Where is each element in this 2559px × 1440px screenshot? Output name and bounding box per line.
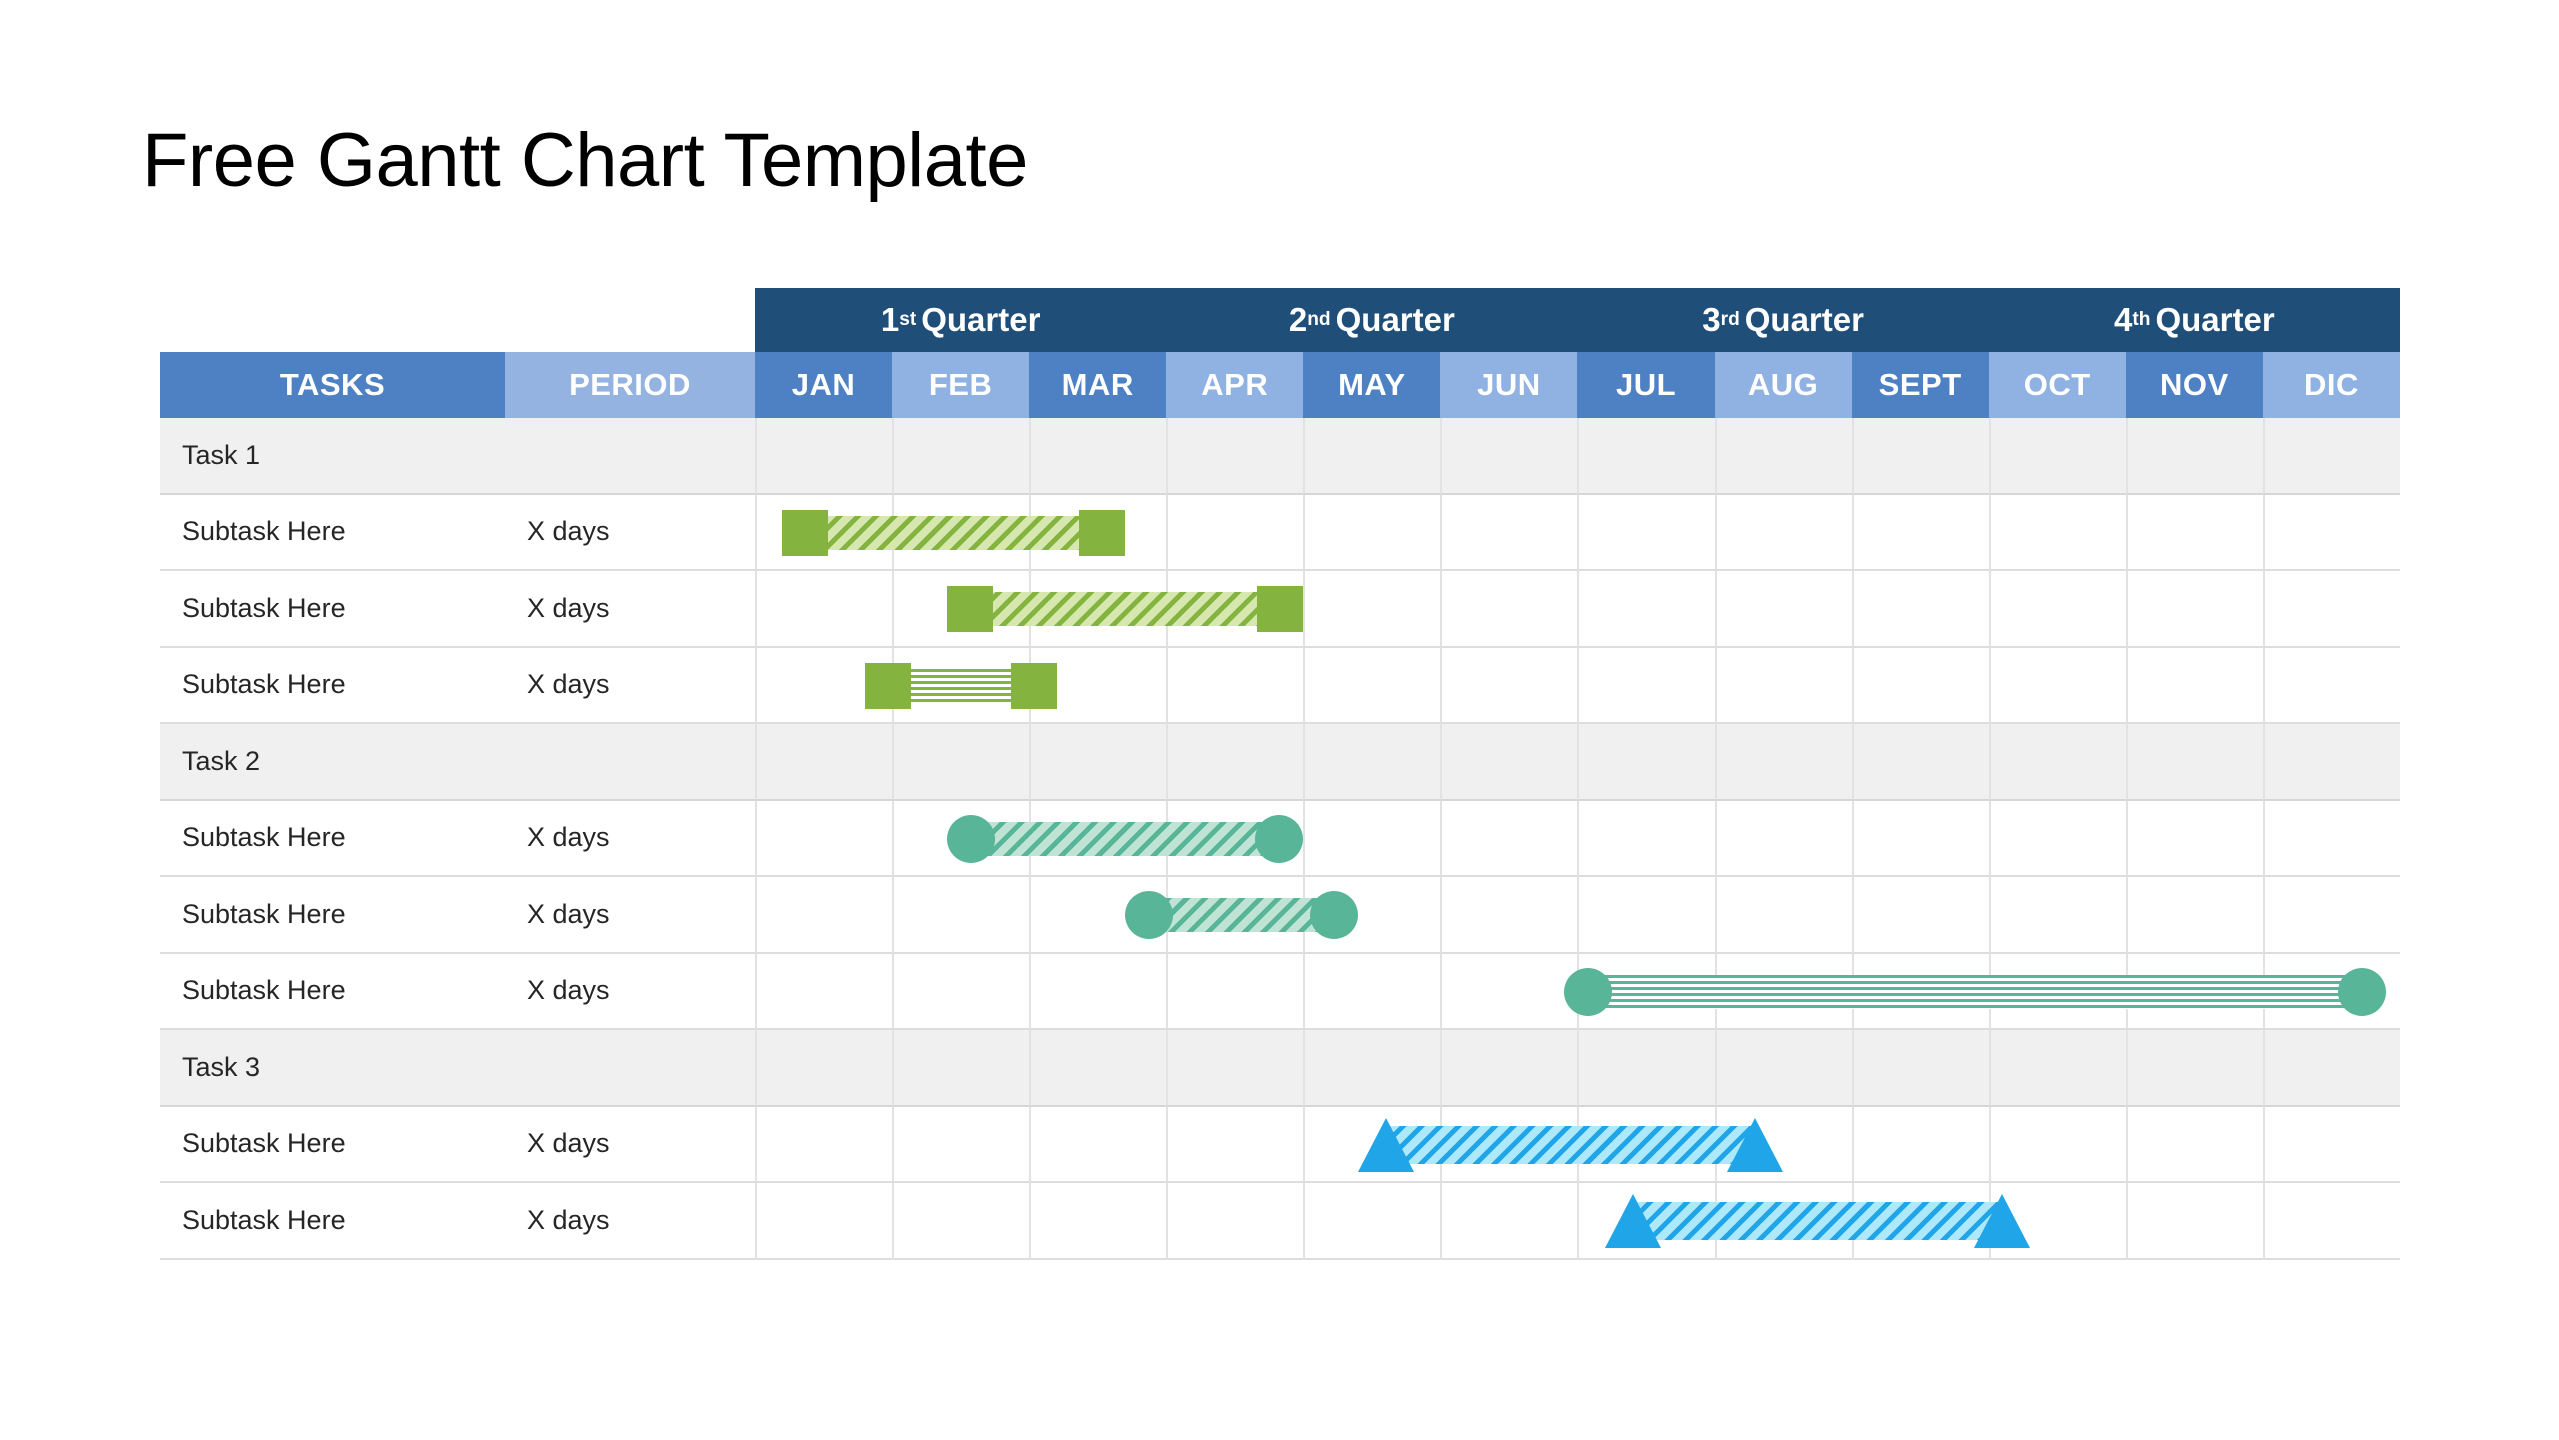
gantt-cell-jan[interactable] <box>755 1107 892 1184</box>
gantt-cell-feb[interactable] <box>892 954 1029 1031</box>
row-period-label: X days <box>505 801 755 878</box>
gantt-cell-mar[interactable] <box>1029 418 1166 495</box>
gantt-cell-jun[interactable] <box>1440 801 1577 878</box>
gantt-cell-mar[interactable] <box>1029 495 1166 572</box>
gantt-cell-apr[interactable] <box>1166 954 1303 1031</box>
gantt-cell-jul[interactable] <box>1577 1030 1714 1107</box>
gantt-cell-jan[interactable] <box>755 724 892 801</box>
gantt-cell-nov[interactable] <box>2126 648 2263 725</box>
gantt-cell-oct[interactable] <box>1989 571 2126 648</box>
column-header-period: PERIOD <box>505 352 755 418</box>
row-period-label <box>505 418 755 495</box>
gantt-chart: 1stQuarter 2ndQuarter 3rdQuarter 4thQuar… <box>160 288 2400 1260</box>
gantt-cell-nov[interactable] <box>2126 1030 2263 1107</box>
gantt-cell-dic[interactable] <box>2263 495 2400 572</box>
gantt-cell-aug[interactable] <box>1715 1183 1852 1260</box>
gantt-cell-jul[interactable] <box>1577 1107 1714 1184</box>
gantt-cell-apr[interactable] <box>1166 1030 1303 1107</box>
quarter-ordinal: 2 <box>1289 301 1307 339</box>
column-header-month-mar: MAR <box>1029 352 1166 418</box>
gantt-cell-jun[interactable] <box>1440 495 1577 572</box>
gantt-subtask-row[interactable]: Subtask HereX days <box>160 571 2400 648</box>
gantt-cell-sept[interactable] <box>1852 801 1989 878</box>
page-title: Free Gantt Chart Template <box>142 123 1028 199</box>
gantt-cell-may[interactable] <box>1303 648 1440 725</box>
gantt-cell-jan[interactable] <box>755 418 892 495</box>
gantt-cell-feb[interactable] <box>892 1030 1029 1107</box>
gantt-cell-dic[interactable] <box>2263 1030 2400 1107</box>
column-header-month-dic: DIC <box>2263 352 2400 418</box>
gantt-cell-sept[interactable] <box>1852 1183 1989 1260</box>
gantt-cell-sept[interactable] <box>1852 571 1989 648</box>
gantt-cell-feb[interactable] <box>892 801 1029 878</box>
row-period-label: X days <box>505 571 755 648</box>
gantt-cell-apr[interactable] <box>1166 495 1303 572</box>
quarter-header-row: 1stQuarter 2ndQuarter 3rdQuarter 4thQuar… <box>160 288 2400 352</box>
gantt-cell-apr[interactable] <box>1166 1107 1303 1184</box>
gantt-cell-oct[interactable] <box>1989 1107 2126 1184</box>
gantt-cell-apr[interactable] <box>1166 1183 1303 1260</box>
gantt-cell-may[interactable] <box>1303 1183 1440 1260</box>
gantt-cell-sept[interactable] <box>1852 418 1989 495</box>
gantt-subtask-row[interactable]: Subtask HereX days <box>160 495 2400 572</box>
gantt-cell-dic[interactable] <box>2263 571 2400 648</box>
quarter-label: Quarter <box>1745 301 1864 339</box>
gantt-cell-may[interactable] <box>1303 724 1440 801</box>
gantt-cell-feb[interactable] <box>892 648 1029 725</box>
gantt-cell-jun[interactable] <box>1440 1183 1577 1260</box>
row-period-label: X days <box>505 648 755 725</box>
row-period-label: X days <box>505 1183 755 1260</box>
gantt-subtask-row[interactable]: Subtask HereX days <box>160 648 2400 725</box>
gantt-cell-sept[interactable] <box>1852 724 1989 801</box>
gantt-cell-sept[interactable] <box>1852 648 1989 725</box>
row-task-label: Subtask Here <box>160 954 505 1031</box>
row-task-label: Task 3 <box>160 1030 505 1107</box>
row-task-label: Subtask Here <box>160 801 505 878</box>
gantt-cell-jun[interactable] <box>1440 648 1577 725</box>
gantt-cell-jun[interactable] <box>1440 954 1577 1031</box>
quarter-header-q4: 4thQuarter <box>1989 288 2400 352</box>
row-task-label: Subtask Here <box>160 648 505 725</box>
gantt-cell-nov[interactable] <box>2126 1107 2263 1184</box>
gantt-cell-dic[interactable] <box>2263 801 2400 878</box>
column-header-month-may: MAY <box>1303 352 1440 418</box>
column-header-row: TASKS PERIOD JAN FEB MAR APR MAY JUN JUL… <box>160 352 2400 418</box>
gantt-cell-jan[interactable] <box>755 954 892 1031</box>
gantt-cell-jun[interactable] <box>1440 1030 1577 1107</box>
gantt-cell-oct[interactable] <box>1989 648 2126 725</box>
row-period-label: X days <box>505 954 755 1031</box>
gantt-cell-dic[interactable] <box>2263 418 2400 495</box>
gantt-cell-oct[interactable] <box>1989 954 2126 1031</box>
gantt-subtask-row[interactable]: Subtask HereX days <box>160 954 2400 1031</box>
quarter-header-q3: 3rdQuarter <box>1578 288 1989 352</box>
gantt-cell-mar[interactable] <box>1029 1030 1166 1107</box>
gantt-cell-apr[interactable] <box>1166 801 1303 878</box>
column-header-month-jun: JUN <box>1440 352 1577 418</box>
gantt-cell-jul[interactable] <box>1577 571 1714 648</box>
gantt-cell-aug[interactable] <box>1715 648 1852 725</box>
row-period-label: X days <box>505 877 755 954</box>
column-header-month-feb: FEB <box>892 352 1029 418</box>
gantt-subtask-row[interactable]: Subtask HereX days <box>160 801 2400 878</box>
gantt-subtask-row[interactable]: Subtask HereX days <box>160 1183 2400 1260</box>
gantt-cell-may[interactable] <box>1303 954 1440 1031</box>
gantt-cell-jul[interactable] <box>1577 495 1714 572</box>
gantt-cell-sept[interactable] <box>1852 1107 1989 1184</box>
gantt-cell-nov[interactable] <box>2126 954 2263 1031</box>
quarter-header-q2: 2ndQuarter <box>1166 288 1577 352</box>
gantt-cell-mar[interactable] <box>1029 1183 1166 1260</box>
row-task-label: Subtask Here <box>160 1107 505 1184</box>
gantt-cell-oct[interactable] <box>1989 418 2126 495</box>
gantt-cell-nov[interactable] <box>2126 571 2263 648</box>
gantt-cell-jan[interactable] <box>755 495 892 572</box>
gantt-cell-jan[interactable] <box>755 877 892 954</box>
quarter-band-spacer <box>160 288 755 352</box>
column-header-month-sept: SEPT <box>1852 352 1989 418</box>
gantt-cell-may[interactable] <box>1303 571 1440 648</box>
row-task-label: Subtask Here <box>160 1183 505 1260</box>
gantt-cell-nov[interactable] <box>2126 418 2263 495</box>
gantt-cell-mar[interactable] <box>1029 801 1166 878</box>
gantt-cell-nov[interactable] <box>2126 724 2263 801</box>
gantt-cell-oct[interactable] <box>1989 1030 2126 1107</box>
gantt-task-row[interactable]: Task 1 <box>160 418 2400 495</box>
gantt-cell-aug[interactable] <box>1715 418 1852 495</box>
row-period-label: X days <box>505 495 755 572</box>
gantt-cell-dic[interactable] <box>2263 1183 2400 1260</box>
gantt-cell-mar[interactable] <box>1029 1107 1166 1184</box>
gantt-cell-jul[interactable] <box>1577 648 1714 725</box>
column-header-month-apr: APR <box>1166 352 1303 418</box>
quarter-ordinal: 1 <box>881 301 899 339</box>
gantt-cell-dic[interactable] <box>2263 724 2400 801</box>
gantt-cell-jan[interactable] <box>755 801 892 878</box>
gantt-cell-oct[interactable] <box>1989 801 2126 878</box>
gantt-cell-nov[interactable] <box>2126 801 2263 878</box>
gantt-cell-may[interactable] <box>1303 801 1440 878</box>
gantt-cell-feb[interactable] <box>892 877 1029 954</box>
gantt-cell-feb[interactable] <box>892 418 1029 495</box>
gantt-cell-dic[interactable] <box>2263 954 2400 1031</box>
quarter-label: Quarter <box>921 301 1040 339</box>
gantt-cell-feb[interactable] <box>892 1107 1029 1184</box>
quarter-ordinal: 4 <box>2114 301 2132 339</box>
gantt-cell-jul[interactable] <box>1577 418 1714 495</box>
gantt-cell-may[interactable] <box>1303 1030 1440 1107</box>
gantt-cell-jun[interactable] <box>1440 877 1577 954</box>
gantt-cell-sept[interactable] <box>1852 1030 1989 1107</box>
gantt-cell-dic[interactable] <box>2263 877 2400 954</box>
gantt-cell-oct[interactable] <box>1989 724 2126 801</box>
gantt-cell-apr[interactable] <box>1166 877 1303 954</box>
gantt-cell-jan[interactable] <box>755 1183 892 1260</box>
gantt-cell-may[interactable] <box>1303 1107 1440 1184</box>
gantt-cell-jul[interactable] <box>1577 724 1714 801</box>
column-header-month-nov: NOV <box>2126 352 2263 418</box>
quarter-header-q1: 1stQuarter <box>755 288 1166 352</box>
column-header-month-aug: AUG <box>1715 352 1852 418</box>
gantt-cell-jun[interactable] <box>1440 1107 1577 1184</box>
gantt-subtask-row[interactable]: Subtask HereX days <box>160 1107 2400 1184</box>
gantt-cell-feb[interactable] <box>892 1183 1029 1260</box>
gantt-cell-aug[interactable] <box>1715 801 1852 878</box>
gantt-cell-apr[interactable] <box>1166 724 1303 801</box>
gantt-cell-apr[interactable] <box>1166 571 1303 648</box>
gantt-cell-jul[interactable] <box>1577 954 1714 1031</box>
gantt-cell-nov[interactable] <box>2126 495 2263 572</box>
row-period-label: X days <box>505 1107 755 1184</box>
quarter-ordinal: 3 <box>1702 301 1720 339</box>
gantt-cell-feb[interactable] <box>892 571 1029 648</box>
gantt-cell-apr[interactable] <box>1166 648 1303 725</box>
row-task-label: Subtask Here <box>160 495 505 572</box>
gantt-cell-aug[interactable] <box>1715 571 1852 648</box>
gantt-cell-oct[interactable] <box>1989 877 2126 954</box>
gantt-cell-dic[interactable] <box>2263 648 2400 725</box>
gantt-cell-aug[interactable] <box>1715 877 1852 954</box>
gantt-cell-apr[interactable] <box>1166 418 1303 495</box>
gantt-body: Task 1Subtask HereX daysSubtask HereX da… <box>160 418 2400 1260</box>
gantt-cell-feb[interactable] <box>892 495 1029 572</box>
gantt-task-row[interactable]: Task 2 <box>160 724 2400 801</box>
gantt-cell-feb[interactable] <box>892 724 1029 801</box>
gantt-cell-jan[interactable] <box>755 648 892 725</box>
quarter-label: Quarter <box>2155 301 2274 339</box>
gantt-cell-aug[interactable] <box>1715 954 1852 1031</box>
column-header-month-oct: OCT <box>1989 352 2126 418</box>
gantt-cell-mar[interactable] <box>1029 648 1166 725</box>
gantt-cell-sept[interactable] <box>1852 877 1989 954</box>
column-header-month-jul: JUL <box>1577 352 1714 418</box>
row-task-label: Task 2 <box>160 724 505 801</box>
gantt-cell-aug[interactable] <box>1715 495 1852 572</box>
quarter-label: Quarter <box>1336 301 1455 339</box>
gantt-cell-nov[interactable] <box>2126 877 2263 954</box>
row-task-label: Subtask Here <box>160 877 505 954</box>
column-header-tasks: TASKS <box>160 352 505 418</box>
gantt-cell-jan[interactable] <box>755 1030 892 1107</box>
gantt-cell-oct[interactable] <box>1989 1183 2126 1260</box>
gantt-cell-dic[interactable] <box>2263 1107 2400 1184</box>
gantt-cell-jan[interactable] <box>755 571 892 648</box>
row-task-label: Task 1 <box>160 418 505 495</box>
row-period-label <box>505 724 755 801</box>
row-task-label: Subtask Here <box>160 571 505 648</box>
gantt-cell-jun[interactable] <box>1440 724 1577 801</box>
gantt-cell-may[interactable] <box>1303 495 1440 572</box>
gantt-cell-jul[interactable] <box>1577 801 1714 878</box>
gantt-cell-may[interactable] <box>1303 418 1440 495</box>
gantt-cell-nov[interactable] <box>2126 1183 2263 1260</box>
gantt-cell-mar[interactable] <box>1029 724 1166 801</box>
gantt-cell-mar[interactable] <box>1029 571 1166 648</box>
gantt-cell-jun[interactable] <box>1440 418 1577 495</box>
gantt-task-row[interactable]: Task 3 <box>160 1030 2400 1107</box>
gantt-cell-sept[interactable] <box>1852 954 1989 1031</box>
gantt-cell-aug[interactable] <box>1715 1030 1852 1107</box>
gantt-cell-jul[interactable] <box>1577 1183 1714 1260</box>
gantt-cell-aug[interactable] <box>1715 1107 1852 1184</box>
column-header-month-jan: JAN <box>755 352 892 418</box>
gantt-cell-aug[interactable] <box>1715 724 1852 801</box>
gantt-cell-mar[interactable] <box>1029 954 1166 1031</box>
gantt-cell-mar[interactable] <box>1029 877 1166 954</box>
row-period-label <box>505 1030 755 1107</box>
gantt-cell-sept[interactable] <box>1852 495 1989 572</box>
gantt-cell-jun[interactable] <box>1440 571 1577 648</box>
gantt-cell-oct[interactable] <box>1989 495 2126 572</box>
gantt-cell-jul[interactable] <box>1577 877 1714 954</box>
gantt-cell-may[interactable] <box>1303 877 1440 954</box>
gantt-subtask-row[interactable]: Subtask HereX days <box>160 877 2400 954</box>
